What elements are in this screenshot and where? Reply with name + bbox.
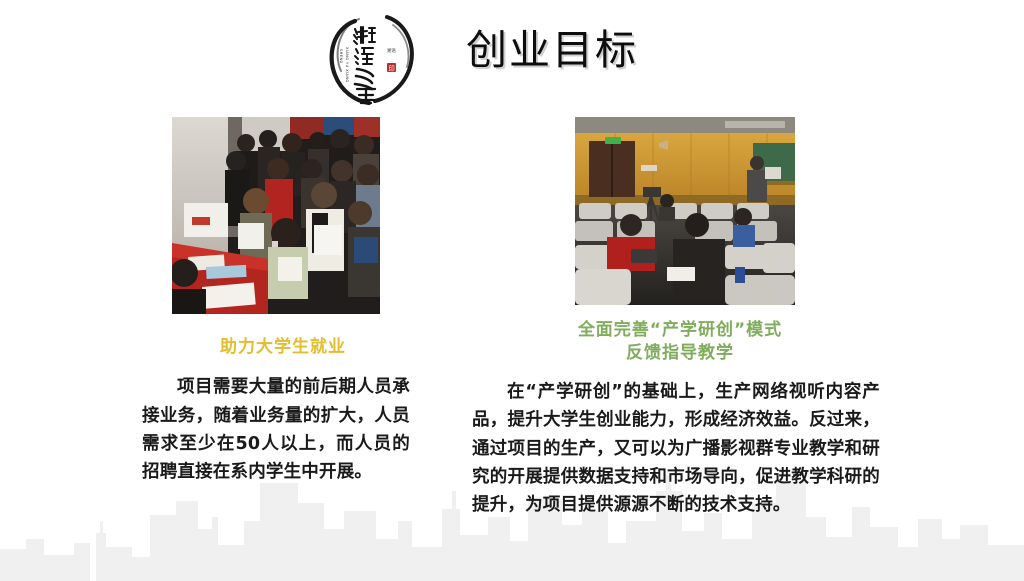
job-fair-crowd-photo (172, 117, 380, 314)
column-left-body: 项目需要大量的前后期人员承接业务，随着业务量的扩大，人员需求至少在50人以上，而… (142, 373, 410, 486)
svg-text:XIANG YU XIANG: XIANG YU XIANG (345, 47, 349, 83)
column-right-title: 全面完善“产学研创”模式 反馈指导教学 (460, 319, 900, 366)
column-left-title: 助力大学生就业 (100, 336, 466, 359)
svg-text:印: 印 (388, 64, 394, 72)
column-right-body: 在“产学研创”的基础上，生产网络视听内容产品，提升大学生创业能力，形成经济效益。… (472, 378, 880, 520)
svg-text:湘语: 湘语 (387, 47, 396, 54)
svg-text:SHENG: SHENG (339, 49, 343, 64)
page-title: 创业目标 (466, 24, 638, 77)
xiangyu-xiangsheng-seal-logo: XIANG YU XIANG SHENG 湘语 印 (325, 11, 421, 107)
content-column-left: 助力大学生就业 项目需要大量的前后期人员承接业务，随着业务量的扩大，人员需求至少… (100, 117, 466, 487)
slide-header: XIANG YU XIANG SHENG 湘语 印 创业目标 (0, 0, 1024, 112)
content-column-right: 全面完善“产学研创”模式 反馈指导教学 在“产学研创”的基础上，生产网络视听内容… (460, 117, 900, 520)
lecture-hall-classroom-photo (575, 117, 795, 305)
slide-canvas: XIANG YU XIANG SHENG 湘语 印 创业目标 (0, 0, 1024, 581)
